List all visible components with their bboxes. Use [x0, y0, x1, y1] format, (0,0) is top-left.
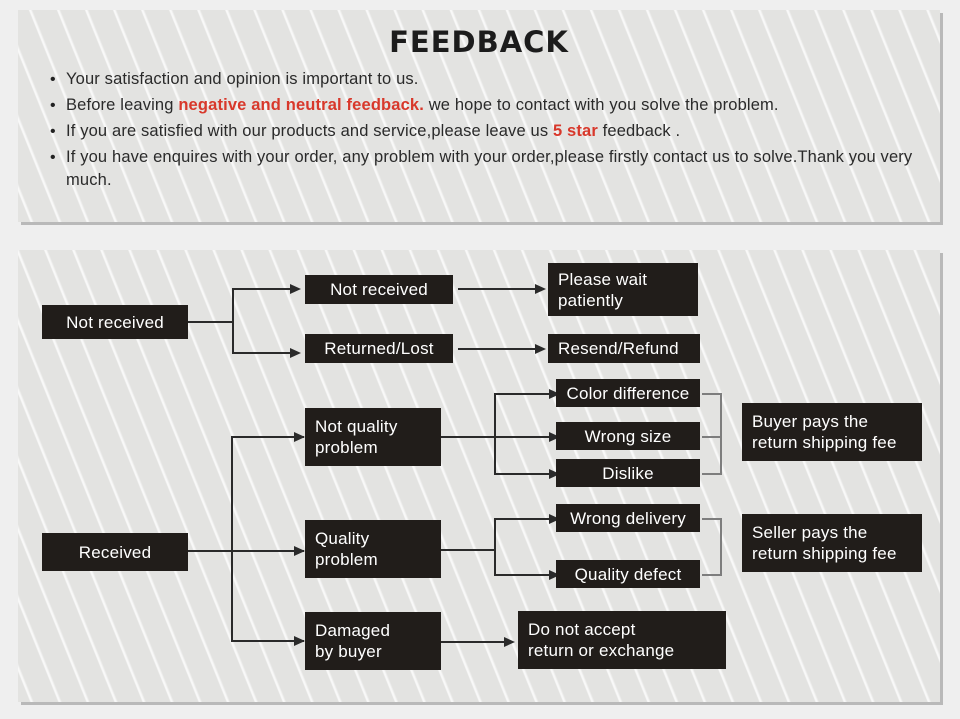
arrow-head-icon — [504, 637, 515, 647]
node-dislike: Dislike — [556, 459, 700, 487]
list-item: • Your satisfaction and opinion is impor… — [46, 68, 926, 91]
node-not-received-branch: Not received — [305, 275, 453, 304]
connector-line — [458, 288, 535, 290]
bracket-line — [720, 518, 722, 576]
list-item-text: Before leaving — [66, 96, 178, 114]
node-buyer-pays-return-shipping-fee: Buyer pays the return shipping fee — [742, 403, 922, 461]
arrow-head-icon — [290, 348, 301, 358]
bracket-line — [720, 393, 722, 475]
list-item-text-tail: we hope to contact with you solve the pr… — [424, 96, 779, 114]
bullet-icon: • — [50, 146, 56, 169]
node-color-difference: Color difference — [556, 379, 700, 407]
feedback-panel: Feedback • Your satisfaction and opinion… — [18, 10, 940, 222]
connector-line — [188, 321, 234, 323]
connector-line — [231, 436, 233, 642]
arrow-head-icon — [294, 546, 305, 556]
arrow-head-icon — [290, 284, 301, 294]
connector-line — [458, 348, 535, 350]
list-item-text-tail: feedback . — [598, 122, 680, 140]
flowchart-panel: Not received Not received Returned/Lost … — [18, 250, 940, 702]
node-wrong-delivery: Wrong delivery — [556, 504, 700, 532]
bracket-line — [702, 473, 722, 475]
flowchart: Not received Not received Returned/Lost … — [18, 250, 940, 702]
bullet-icon: • — [50, 94, 56, 117]
list-item-text: Your satisfaction and opinion is importa… — [66, 70, 419, 88]
connector-line — [441, 436, 496, 438]
connector-line — [494, 393, 549, 395]
connector-line — [494, 473, 549, 475]
list-item: • If you have enquires with your order, … — [46, 146, 926, 192]
node-wrong-size: Wrong size — [556, 422, 700, 450]
node-quality-defect: Quality defect — [556, 560, 700, 588]
bracket-line — [702, 436, 722, 438]
bullet-icon: • — [50, 68, 56, 91]
connector-line — [232, 288, 234, 354]
arrow-head-icon — [535, 344, 546, 354]
arrow-head-icon — [294, 636, 305, 646]
node-received-root: Received — [42, 533, 188, 571]
highlight-negative-feedback: negative and neutral feedback. — [178, 96, 424, 114]
list-item: • Before leaving negative and neutral fe… — [46, 94, 926, 117]
node-returned-lost: Returned/Lost — [305, 334, 453, 363]
bracket-line — [702, 574, 722, 576]
bracket-line — [702, 518, 722, 520]
list-item: • If you are satisfied with our products… — [46, 120, 926, 143]
node-not-quality-problem: Not quality problem — [305, 408, 441, 466]
connector-line — [232, 288, 290, 290]
arrow-head-icon — [294, 432, 305, 442]
list-item-text: If you have enquires with your order, an… — [66, 148, 912, 189]
connector-line — [232, 352, 290, 354]
highlight-five-star: 5 star — [553, 122, 598, 140]
bracket-line — [702, 393, 722, 395]
node-seller-pays-return-shipping-fee: Seller pays the return shipping fee — [742, 514, 922, 572]
connector-line — [188, 550, 304, 552]
connector-line — [494, 436, 549, 438]
connector-line — [441, 549, 496, 551]
list-item-text: If you are satisfied with our products a… — [66, 122, 553, 140]
connector-line — [494, 518, 496, 576]
node-quality-problem: Quality problem — [305, 520, 441, 578]
node-resend-refund: Resend/Refund — [548, 334, 700, 363]
connector-line — [494, 574, 549, 576]
node-damaged-by-buyer: Damaged by buyer — [305, 612, 441, 670]
connector-line — [494, 518, 549, 520]
bullet-icon: • — [50, 120, 56, 143]
page-title: Feedback — [18, 18, 940, 59]
node-do-not-accept-return-or-exchange: Do not accept return or exchange — [518, 611, 726, 669]
arrow-head-icon — [535, 284, 546, 294]
feedback-bullet-list: • Your satisfaction and opinion is impor… — [46, 68, 926, 195]
connector-line — [441, 641, 504, 643]
node-not-received-root: Not received — [42, 305, 188, 339]
node-please-wait-patiently: Please wait patiently — [548, 263, 698, 316]
connector-line — [494, 393, 496, 475]
page-root: Feedback • Your satisfaction and opinion… — [0, 0, 960, 719]
